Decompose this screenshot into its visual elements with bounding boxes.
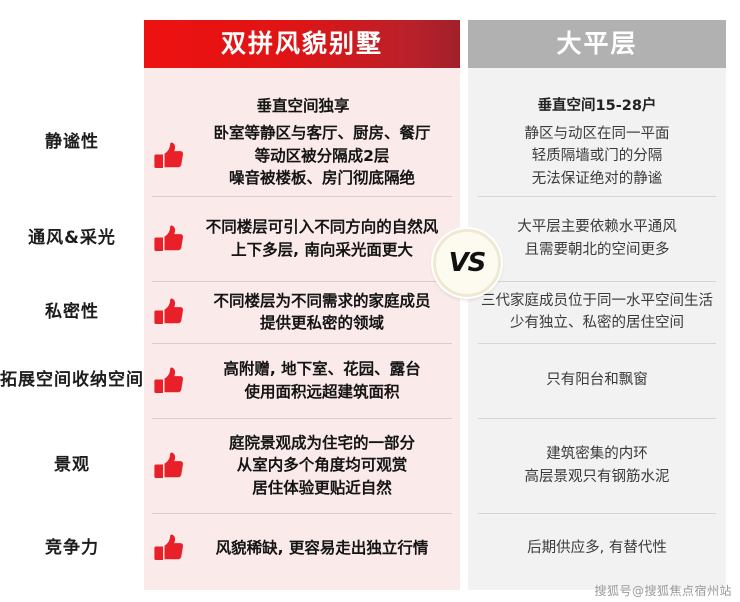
pro-text-line: 使用面积远超建筑面积 <box>190 381 454 403</box>
right-column-header: 大平层 <box>468 20 726 68</box>
row-con-cell: 三代家庭成员位于同一水平空间生活少有独立、私密的居住空间 <box>468 281 726 343</box>
row-label-2: 通风&采光 <box>0 196 144 281</box>
row-separator-left <box>152 513 452 514</box>
row-separator-right <box>478 281 716 282</box>
con-text-line: 轻质隔墙或门的分隔 <box>474 145 720 167</box>
con-text-line: 无法保证绝对的静谧 <box>474 168 720 190</box>
row-con-cell: 后期供应多, 有替代性 <box>468 513 726 583</box>
row-label-5: 景观 <box>0 418 144 513</box>
row-separator-left <box>152 281 452 282</box>
con-text: 静区与动区在同一平面轻质隔墙或门的分隔无法保证绝对的静谧 <box>474 123 720 190</box>
row-pro-cell: 风貌稀缺, 更容易走出独立行情 <box>144 513 460 583</box>
comparison-row-3: 私密性 不同楼层为不同需求的家庭成员提供更私密的领域 三代家庭成 <box>0 281 740 343</box>
row-con-cell: 建筑密集的内环高层景观只有钢筋水泥 <box>468 418 726 513</box>
pro-text: 不同楼层为不同需求的家庭成员提供更私密的领域 <box>190 290 454 335</box>
comparison-row-5: 景观 庭院景观成为住宅的一部分从室内多个角度均可观赏居住体验更贴近自然 <box>0 418 740 513</box>
comparison-row-6: 竞争力 风貌稀缺, 更容易走出独立行情 后期供应多, 有替代性 <box>0 513 740 583</box>
row-pro-cell: 庭院景观成为住宅的一部分从室内多个角度均可观赏居住体验更贴近自然 <box>144 418 460 513</box>
row-separator-left <box>152 418 452 419</box>
thumbs-up-icon <box>152 366 186 396</box>
row-label-line: 静谧性 <box>45 131 99 154</box>
con-text-line: 且需要朝北的空间更多 <box>474 239 720 261</box>
pro-text-line: 高附赠, 地下室、花园、露台 <box>190 358 454 380</box>
con-text: 三代家庭成员位于同一水平空间生活少有独立、私密的居住空间 <box>474 290 720 335</box>
row-label-line: 收纳空间 <box>72 369 144 392</box>
comparison-infographic: 双拼风貌别墅 大平层 静谧性 垂直空间独享 卧室等静区与客厅、厨房、餐厅等动区被… <box>0 0 740 602</box>
row-label-line: 私密性 <box>45 301 99 324</box>
pro-text-line: 等动区被分隔成2层 <box>190 145 454 167</box>
pro-text-line: 从室内多个角度均可观赏 <box>190 454 454 476</box>
pro-text-line: 不同楼层为不同需求的家庭成员 <box>190 290 454 312</box>
pro-text: 风貌稀缺, 更容易走出独立行情 <box>190 537 454 559</box>
con-text-line: 少有独立、私密的居住空间 <box>474 312 720 334</box>
row-con-cell: 大平层主要依赖水平通风且需要朝北的空间更多 <box>468 196 726 281</box>
row-label-line: 拓展空间 <box>0 369 72 392</box>
left-column-header: 双拼风貌别墅 <box>144 20 460 68</box>
pro-text: 庭院景观成为住宅的一部分从室内多个角度均可观赏居住体验更贴近自然 <box>190 432 454 499</box>
row-label-line: 通风&采光 <box>28 227 116 250</box>
thumbs-up-icon <box>152 141 186 171</box>
row-label-line: 景观 <box>54 454 90 477</box>
con-text-line: 三代家庭成员位于同一水平空间生活 <box>474 290 720 312</box>
con-text: 大平层主要依赖水平通风且需要朝北的空间更多 <box>474 216 720 261</box>
con-text-line: 高层景观只有钢筋水泥 <box>474 466 720 488</box>
row-label-6: 竞争力 <box>0 513 144 583</box>
row-separator-right <box>478 196 716 197</box>
pro-lead-text: 垂直空间独享 <box>152 94 454 116</box>
pro-text: 不同楼层可引入不同方向的自然风上下多层, 南向采光面更大 <box>190 216 454 261</box>
row-label-3: 私密性 <box>0 281 144 343</box>
con-text-line: 后期供应多, 有替代性 <box>474 537 720 559</box>
pro-text-line: 不同楼层可引入不同方向的自然风 <box>190 216 454 238</box>
row-pro-cell: 垂直空间独享 卧室等静区与客厅、厨房、餐厅等动区被分隔成2层噪音被楼板、房门彻底… <box>144 88 460 196</box>
watermark: 搜狐号@搜狐焦点宿州站 <box>594 582 732 599</box>
pro-text-line: 风貌稀缺, 更容易走出独立行情 <box>190 537 454 559</box>
thumbs-up-icon <box>152 451 186 481</box>
pro-text-line: 提供更私密的领域 <box>190 312 454 334</box>
row-con-cell: 只有阳台和飘窗 <box>468 343 726 418</box>
thumbs-up-icon <box>152 224 186 254</box>
con-text: 只有阳台和飘窗 <box>474 369 720 391</box>
row-label-1: 静谧性 <box>0 88 144 196</box>
pro-text-line: 上下多层, 南向采光面更大 <box>190 239 454 261</box>
comparison-row-1: 静谧性 垂直空间独享 卧室等静区与客厅、厨房、餐厅等动区被分隔成2层噪音被楼板、… <box>0 88 740 196</box>
con-lead-text: 垂直空间15-28户 <box>474 94 720 115</box>
row-pro-cell: 不同楼层为不同需求的家庭成员提供更私密的领域 <box>144 281 460 343</box>
pro-text-line: 噪音被楼板、房门彻底隔绝 <box>190 167 454 189</box>
pro-text: 高附赠, 地下室、花园、露台使用面积远超建筑面积 <box>190 358 454 403</box>
row-con-cell: 垂直空间15-28户 静区与动区在同一平面轻质隔墙或门的分隔无法保证绝对的静谧 <box>468 88 726 196</box>
row-separator-right <box>478 343 716 344</box>
row-pro-cell: 高附赠, 地下室、花园、露台使用面积远超建筑面积 <box>144 343 460 418</box>
con-text: 后期供应多, 有替代性 <box>474 537 720 559</box>
pro-text-line: 居住体验更贴近自然 <box>190 477 454 499</box>
con-text: 建筑密集的内环高层景观只有钢筋水泥 <box>474 443 720 488</box>
row-separator-right <box>478 418 716 419</box>
row-separator-left <box>152 343 452 344</box>
pro-text-line: 庭院景观成为住宅的一部分 <box>190 432 454 454</box>
thumbs-up-icon <box>152 533 186 563</box>
row-separator-right <box>478 513 716 514</box>
vs-badge: VS <box>433 229 501 297</box>
con-text-line: 建筑密集的内环 <box>474 443 720 465</box>
comparison-row-2: 通风&采光 不同楼层可引入不同方向的自然风上下多层, 南向采光面更大 <box>0 196 740 281</box>
row-pro-cell: 不同楼层可引入不同方向的自然风上下多层, 南向采光面更大 <box>144 196 460 281</box>
pro-text: 卧室等静区与客厅、厨房、餐厅等动区被分隔成2层噪音被楼板、房门彻底隔绝 <box>190 122 454 189</box>
con-text-line: 静区与动区在同一平面 <box>474 123 720 145</box>
row-label-line: 竞争力 <box>45 537 99 560</box>
row-separator-left <box>152 196 452 197</box>
thumbs-up-icon <box>152 297 186 327</box>
pro-text-line: 卧室等静区与客厅、厨房、餐厅 <box>190 122 454 144</box>
row-label-4: 拓展空间收纳空间 <box>0 343 144 418</box>
con-text-line: 只有阳台和飘窗 <box>474 369 720 391</box>
con-text-line: 大平层主要依赖水平通风 <box>474 216 720 238</box>
comparison-row-4: 拓展空间收纳空间 高附赠, 地下室、花园、露台使用面积远超建筑面积 <box>0 343 740 418</box>
